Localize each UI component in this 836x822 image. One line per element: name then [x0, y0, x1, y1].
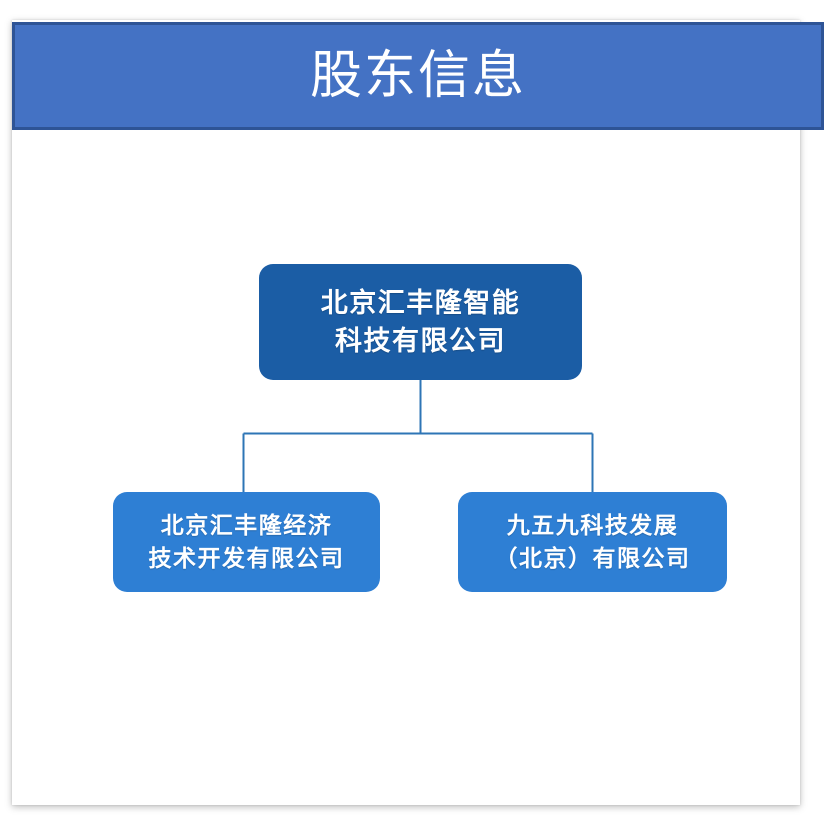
org-node-child-2-label-line1: 九五九科技发展: [507, 513, 679, 538]
org-node-root[interactable]: 北京汇丰隆智能 科技有限公司: [259, 264, 582, 380]
org-chart-connectors: [12, 130, 800, 805]
org-chart: 北京汇丰隆智能 科技有限公司 北京汇丰隆经济 技术开发有限公司 九五九科技发展 …: [12, 130, 800, 805]
org-node-child-2-label: 九五九科技发展 （北京）有限公司: [487, 509, 699, 576]
org-node-root-label: 北京汇丰隆智能 科技有限公司: [313, 284, 529, 361]
org-node-child-1-label-line1: 北京汇丰隆经济: [161, 513, 333, 538]
org-node-child-1-label-line2: 技术开发有限公司: [149, 546, 345, 571]
page-title: 股东信息: [310, 50, 526, 102]
org-node-root-label-line2: 科技有限公司: [335, 326, 506, 356]
org-node-root-label-line1: 北京汇丰隆智能: [321, 288, 521, 318]
org-node-child-2-label-line2: （北京）有限公司: [495, 546, 691, 571]
org-node-child-1[interactable]: 北京汇丰隆经济 技术开发有限公司: [113, 492, 380, 592]
page-title-banner: 股东信息: [12, 22, 824, 130]
org-node-child-2[interactable]: 九五九科技发展 （北京）有限公司: [458, 492, 727, 592]
org-node-child-1-label: 北京汇丰隆经济 技术开发有限公司: [141, 509, 353, 576]
